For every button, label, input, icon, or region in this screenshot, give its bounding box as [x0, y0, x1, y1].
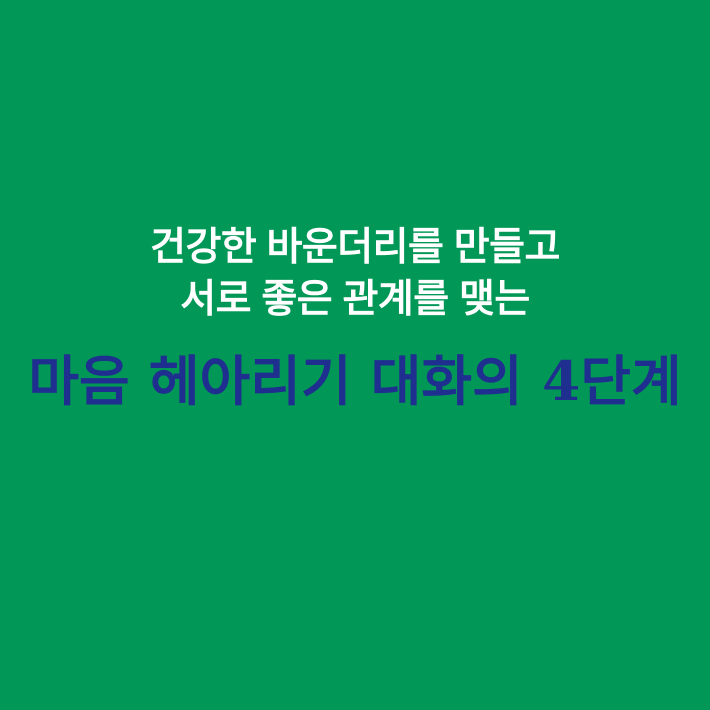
card-text-block: 건강한 바운더리를 만들고 서로 좋은 관계를 맺는 마음 헤아리기 대화의 4… [0, 0, 710, 710]
card-headline: 마음 헤아리기 대화의 4단계 [0, 350, 710, 412]
promo-card: 건강한 바운더리를 만들고 서로 좋은 관계를 맺는 마음 헤아리기 대화의 4… [0, 0, 710, 710]
card-subheading-line-1: 건강한 바운더리를 만들고 [0, 222, 710, 274]
card-subheading-line-2: 서로 좋은 관계를 맺는 [0, 274, 710, 326]
